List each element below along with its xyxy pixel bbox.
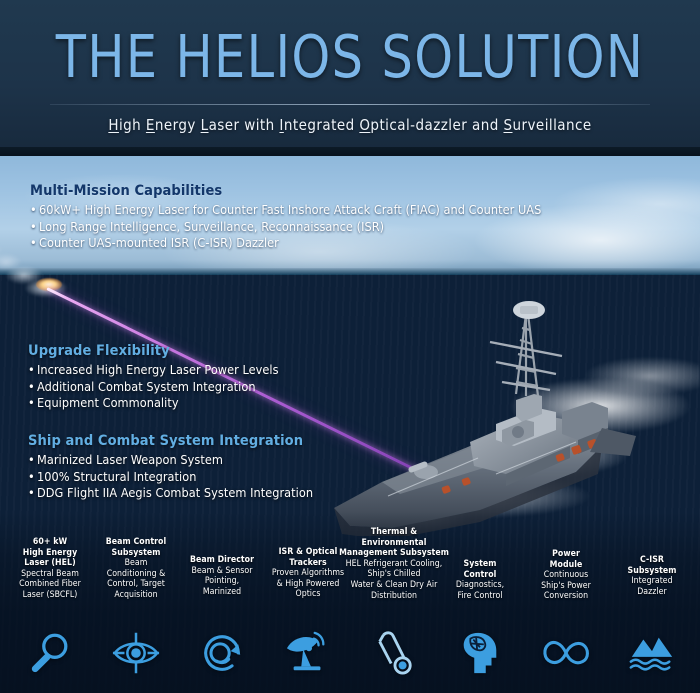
subsystem-desc-line: Laser (SBCFL)	[0, 590, 100, 601]
subtitle-acrostic-letter: L	[201, 116, 209, 134]
subsystem-desc-line: Conversion	[520, 591, 612, 602]
subsystem-title-line: Power	[520, 549, 612, 560]
list-item: Counter UAS-mounted ISR (C-ISR) Dazzler	[30, 235, 541, 252]
list-item: DDG Flight IIA Aegis Combat System Integ…	[28, 485, 313, 502]
icon-cell-system-control[interactable]	[436, 612, 524, 693]
subsystem-title-line: Environmental	[328, 538, 460, 549]
block-bullet-list: 60kW+ High Energy Laser for Counter Fast…	[30, 202, 541, 252]
icon-cell-beam-director[interactable]	[178, 612, 266, 693]
list-item: Marinized Laser Weapon System	[28, 452, 313, 469]
subsystem-desc-line: Fire Control	[434, 591, 526, 602]
list-item: Additional Combat System Integration	[28, 379, 279, 396]
list-item: 60kW+ High Energy Laser for Counter Fast…	[30, 202, 541, 219]
block-heading: Upgrade Flexibility	[28, 342, 279, 360]
subsystem-desc-line: Combined Fiber	[0, 579, 100, 590]
list-item: Equipment Commonality	[28, 395, 279, 412]
subtitle-acrostic-letter: O	[359, 116, 370, 134]
subsystem-desc-line: Conditioning &	[86, 569, 186, 580]
icon-cell-beam-control-subsystem[interactable]	[92, 612, 180, 693]
subsystem-desc-line: Ship's Power	[520, 581, 612, 592]
page-title: THE HELIOS SOLUTION	[25, 26, 676, 88]
block-bullet-list: Marinized Laser Weapon System 100% Struc…	[28, 452, 313, 502]
block-bullet-list: Increased High Energy Laser Power Levels…	[28, 362, 279, 412]
icon-cell-isr-optical-trackers[interactable]	[264, 612, 352, 693]
subsystem-title-line: Module	[520, 560, 612, 571]
header-banner: THE HELIOS SOLUTION High Energy Laser wi…	[0, 0, 700, 156]
eye-target-icon	[111, 630, 161, 676]
page-subtitle: High Energy Laser with Integrated Optica…	[0, 115, 700, 135]
satellite-dish-icon	[284, 630, 332, 676]
title-divider	[50, 104, 650, 105]
subsystem-desc-line: Control, Target	[86, 579, 186, 590]
magnifier-icon	[27, 630, 73, 676]
subsystem-title-line: Thermal &	[328, 527, 460, 538]
infinity-icon	[540, 633, 592, 673]
block-upgrade-flexibility: Upgrade Flexibility Increased High Energ…	[28, 342, 279, 412]
list-item: 100% Structural Integration	[28, 469, 313, 486]
subsystem-title-line: High Energy	[0, 548, 100, 559]
subsystem-title-line: Laser (HEL)	[0, 558, 100, 569]
subsystem-desc-line: Continuous	[520, 570, 612, 581]
icon-cell-c-isr-subsystem[interactable]	[608, 612, 696, 693]
head-brain-icon	[457, 629, 503, 677]
subsystem-label-c-isr-subsystem: C-ISRSubsystemIntegratedDazzler	[606, 555, 698, 597]
subsystem-label-system-control: SystemControlDiagnostics,Fire Control	[434, 559, 526, 601]
subsystem-title-line: Subsystem	[86, 548, 186, 559]
subsystem-desc-line: Diagnostics,	[434, 580, 526, 591]
subsystem-icon-row	[0, 612, 700, 693]
block-heading: Multi-Mission Capabilities	[30, 182, 541, 200]
thermometer-icon	[373, 629, 415, 677]
subsystem-desc-line: Acquisition	[86, 590, 186, 601]
subsystem-title-line: Management Subsystem	[328, 548, 460, 559]
list-item: Increased High Energy Laser Power Levels	[28, 362, 279, 379]
icon-cell-thermal-environmental[interactable]	[350, 612, 438, 693]
block-multi-mission-capabilities: Multi-Mission Capabilities 60kW+ High En…	[30, 182, 541, 252]
subsystem-title-line: C-ISR	[606, 555, 698, 566]
subsystem-label-power-module: PowerModuleContinuousShip's PowerConvers…	[520, 549, 612, 602]
rotation-arrows-icon	[199, 630, 245, 676]
subtitle-acrostic-letter: E	[146, 116, 155, 134]
subsystem-label-beam-control-subsystem: Beam ControlSubsystemBeamConditioning &C…	[86, 537, 186, 601]
subsystem-title-line: Subsystem	[606, 566, 698, 577]
subsystem-desc-line: Beam	[86, 558, 186, 569]
block-heading: Ship and Combat System Integration	[28, 432, 313, 450]
icon-cell-power-module[interactable]	[522, 612, 610, 693]
subtitle-acrostic-letter: H	[108, 116, 119, 134]
subsystem-label-high-energy-laser: 60+ kWHigh EnergyLaser (HEL)Spectral Bea…	[0, 537, 100, 601]
subsystem-title-line: Beam Control	[86, 537, 186, 548]
subsystem-title-line: 60+ kW	[0, 537, 100, 548]
naval-destroyer	[330, 296, 700, 536]
mountains-water-icon	[627, 631, 677, 675]
subsystem-desc-line: Dazzler	[606, 587, 698, 598]
subtitle-acrostic-letter: I	[279, 116, 283, 134]
subsystem-label-row: 60+ kWHigh EnergyLaser (HEL)Spectral Bea…	[0, 525, 700, 620]
subsystem-title-line: System	[434, 559, 526, 570]
icon-cell-high-energy-laser[interactable]	[6, 612, 94, 693]
block-ship-and-combat-system-integration: Ship and Combat System Integration Marin…	[28, 432, 313, 502]
list-item: Long Range Intelligence, Surveillance, R…	[30, 219, 541, 236]
subsystem-title-line: Control	[434, 570, 526, 581]
subtitle-acrostic-letter: S	[503, 116, 512, 134]
subsystem-desc-line: Spectral Beam	[0, 569, 100, 580]
helios-infographic: THE HELIOS SOLUTION High Energy Laser wi…	[0, 0, 700, 693]
subsystem-desc-line: Integrated	[606, 576, 698, 587]
